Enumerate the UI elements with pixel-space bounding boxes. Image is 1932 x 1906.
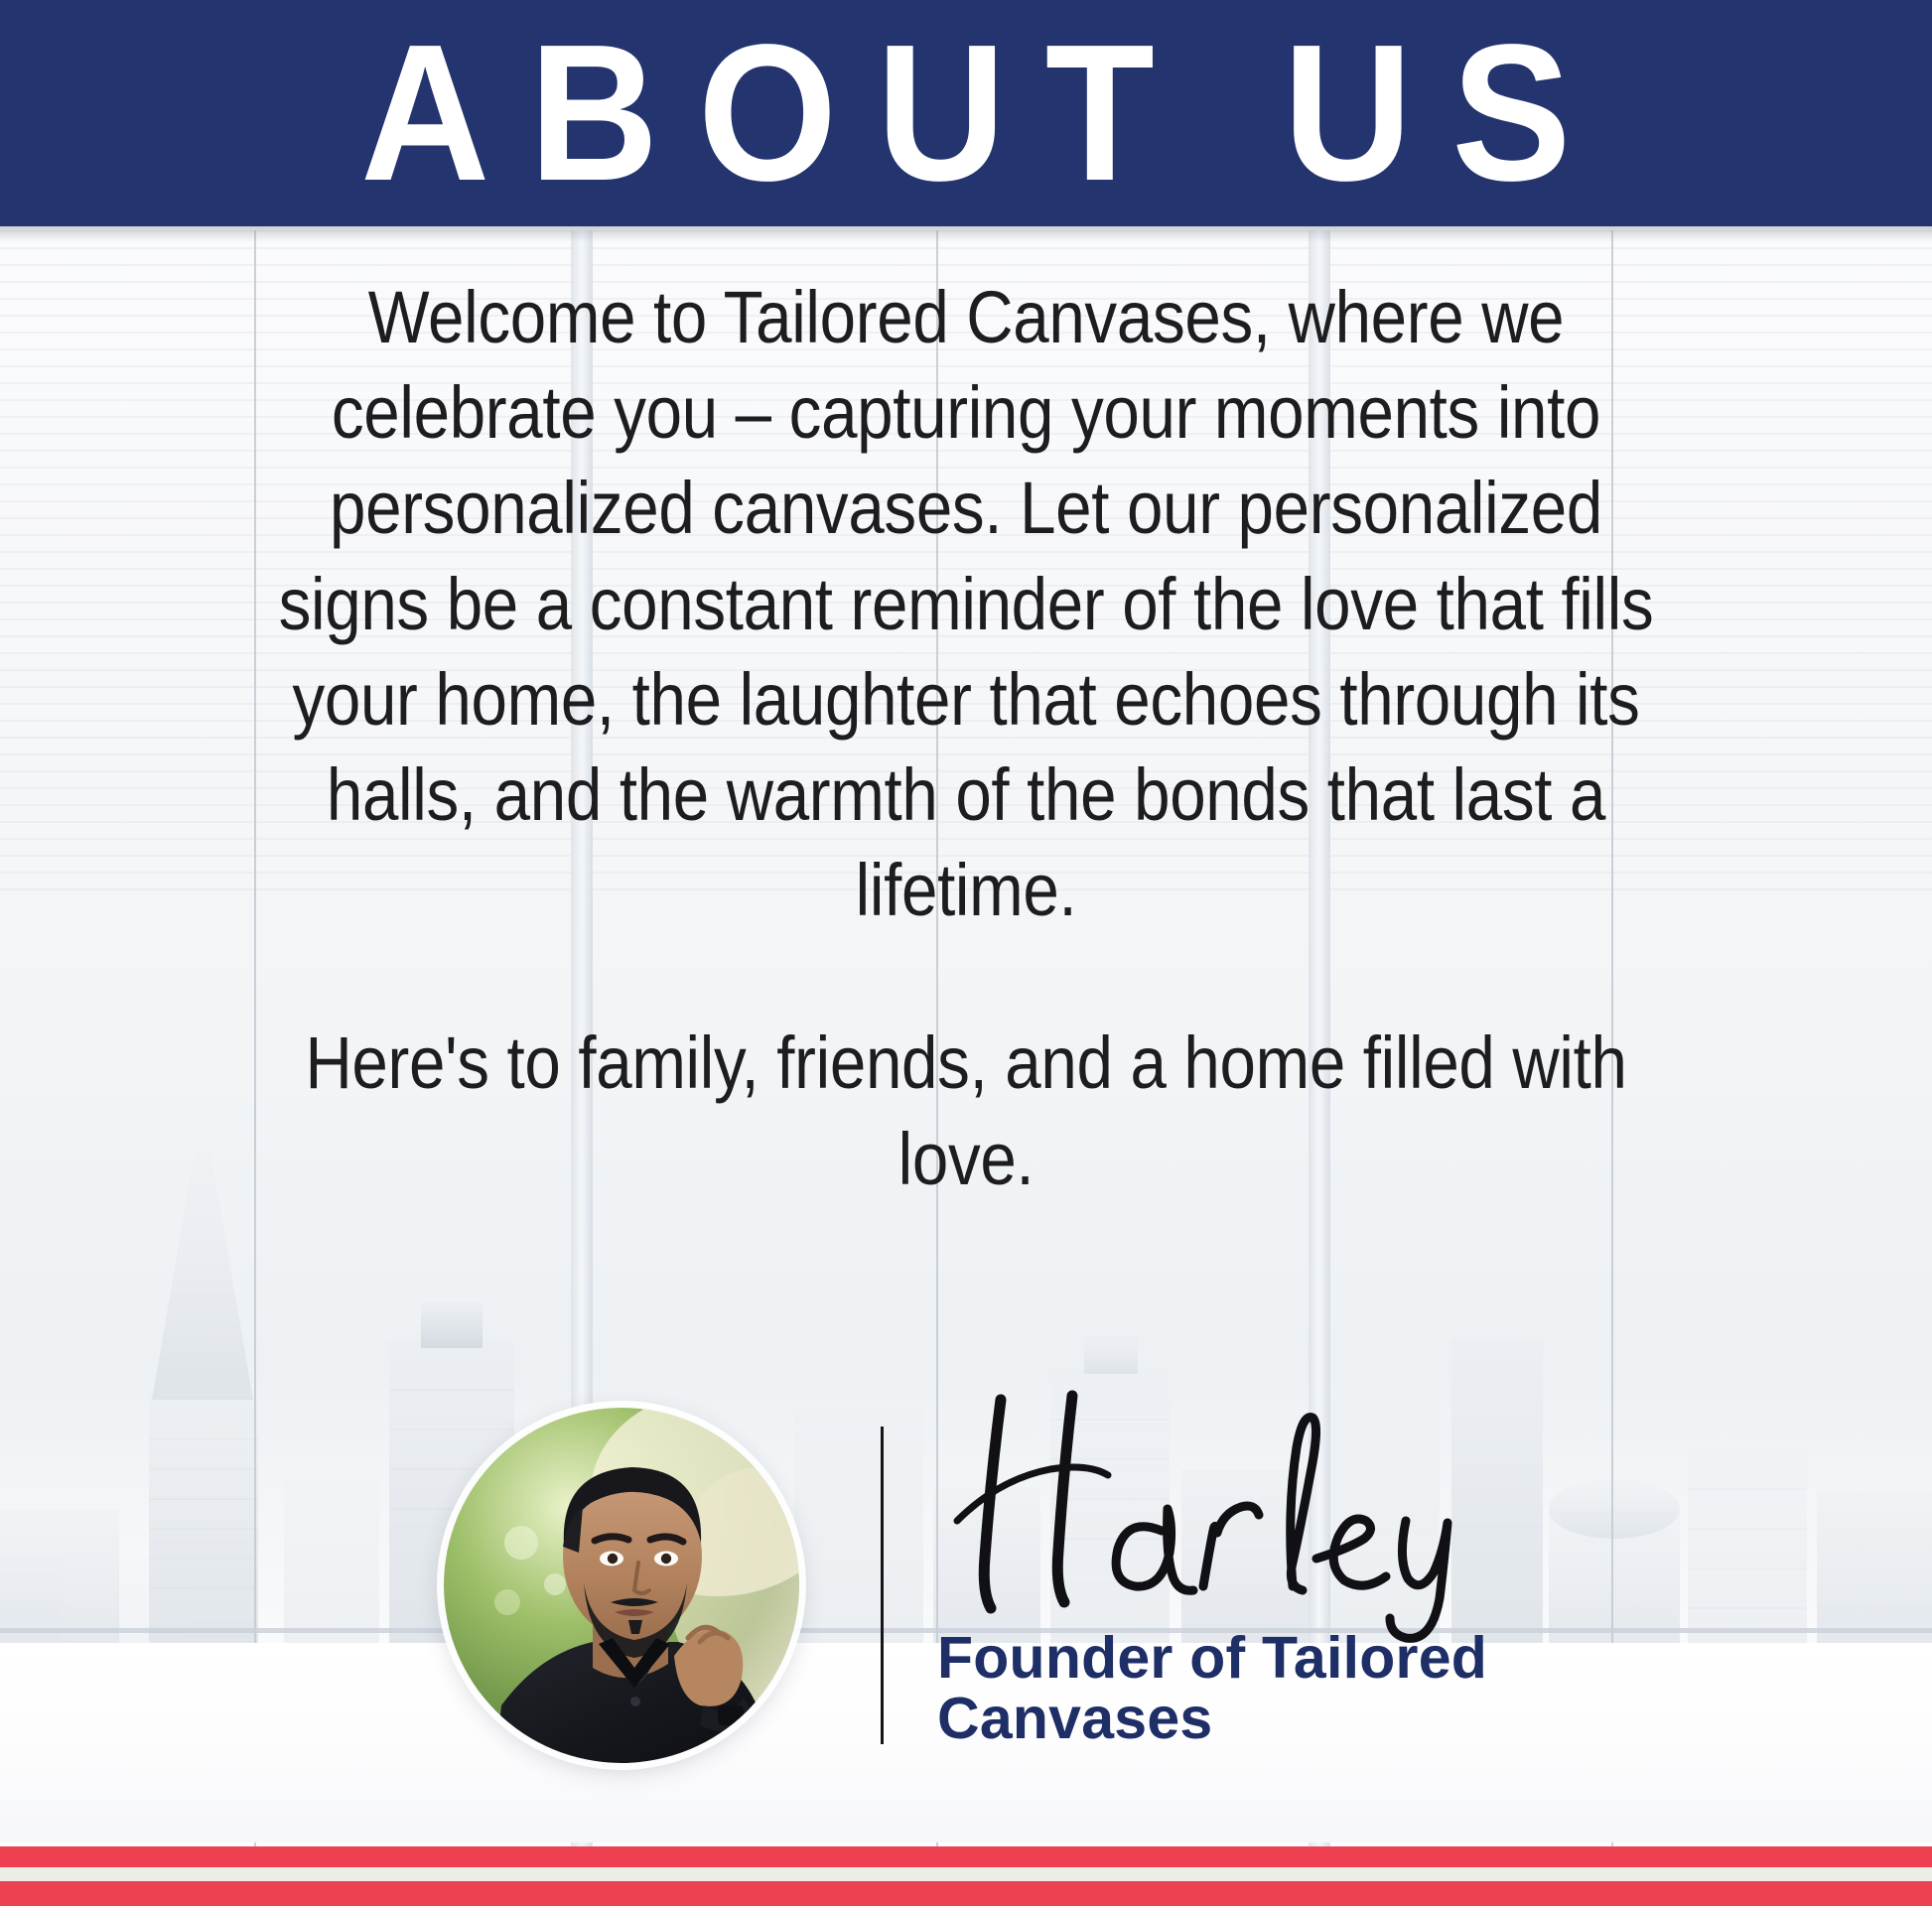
founder-signature bbox=[923, 1382, 1559, 1650]
signature-divider bbox=[881, 1427, 884, 1744]
page-title: ABOUT US bbox=[322, 24, 1611, 203]
paragraph-1: Welcome to Tailored Canvases, where we c… bbox=[278, 270, 1654, 938]
founder-avatar bbox=[444, 1408, 799, 1763]
about-us-body-copy: Welcome to Tailored Canvases, where we c… bbox=[278, 270, 1654, 1207]
window-mullion bbox=[254, 230, 256, 1846]
paragraph-spacer bbox=[278, 938, 1654, 1016]
founder-role-line-1: Founder of Tailored bbox=[937, 1628, 1553, 1689]
header-drop-shadow bbox=[0, 226, 1932, 242]
footer-stripe-bottom bbox=[0, 1881, 1932, 1906]
founder-role-label: Founder of Tailored Canvases bbox=[937, 1628, 1553, 1749]
header-band: ABOUT US bbox=[0, 0, 1932, 226]
founder-role-line-2: Canvases bbox=[937, 1689, 1553, 1749]
paragraph-2: Here's to family, friends, and a home fi… bbox=[278, 1016, 1654, 1206]
footer-stripe-top bbox=[0, 1846, 1932, 1867]
footer-stripe-gap bbox=[0, 1867, 1932, 1881]
